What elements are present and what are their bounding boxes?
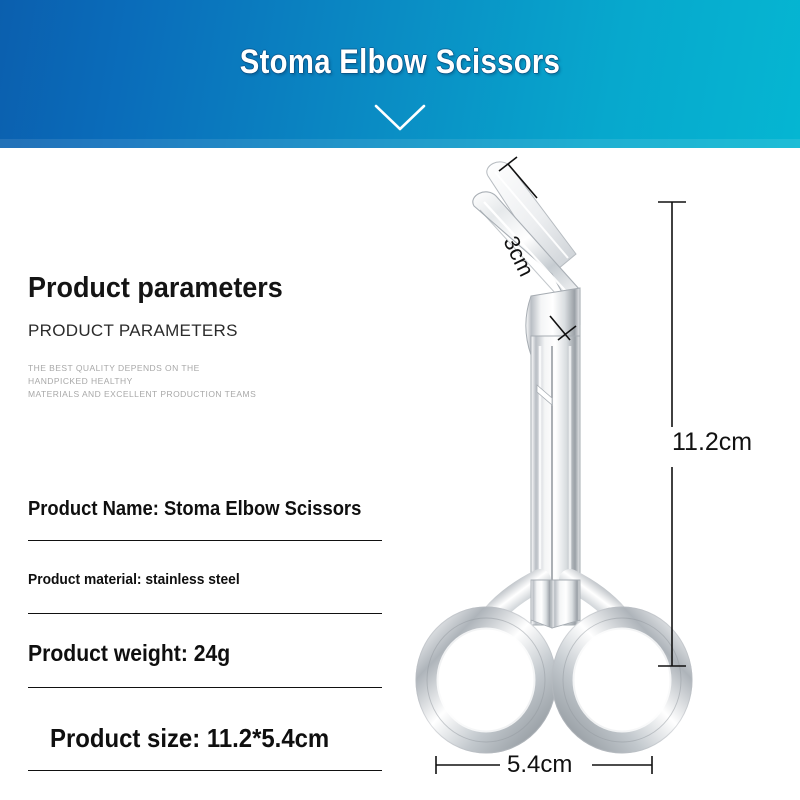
page-header-banner: Stoma Elbow Scissors bbox=[0, 0, 800, 148]
dimension-label-height: 11.2cm bbox=[672, 427, 752, 457]
spec-product-material: Product material: stainless steel bbox=[28, 570, 240, 590]
dimension-label-width: 5.4cm bbox=[507, 750, 572, 779]
chevron-down-icon bbox=[372, 103, 428, 133]
section-heading: Product parameters bbox=[28, 271, 283, 305]
page-title: Stoma Elbow Scissors bbox=[56, 42, 744, 82]
banner-bottom-sheen bbox=[0, 139, 800, 148]
tagline-line-3: MATERIALS AND EXCELLENT PRODUCTION TEAMS bbox=[28, 388, 256, 401]
spec-product-size: Product size: 11.2*5.4cm bbox=[50, 721, 329, 755]
spec-divider-3 bbox=[28, 687, 382, 688]
spec-divider-4 bbox=[28, 770, 382, 771]
spec-product-weight: Product weight: 24g bbox=[28, 638, 230, 668]
spec-divider-1 bbox=[28, 540, 382, 541]
spec-divider-2 bbox=[28, 613, 382, 614]
tagline-line-1: THE BEST QUALITY DEPENDS ON THE bbox=[28, 362, 256, 375]
section-tagline: THE BEST QUALITY DEPENDS ON THE HANDPICK… bbox=[28, 362, 256, 401]
section-subheading: PRODUCT PARAMETERS bbox=[28, 320, 238, 341]
shank-tails bbox=[531, 580, 580, 628]
scissors-illustration bbox=[400, 150, 800, 800]
scissors-render bbox=[400, 150, 800, 800]
spec-product-name: Product Name: Stoma Elbow Scissors bbox=[28, 496, 361, 522]
tagline-line-2: HANDPICKED HEALTHY bbox=[28, 375, 256, 388]
product-image bbox=[400, 150, 800, 800]
